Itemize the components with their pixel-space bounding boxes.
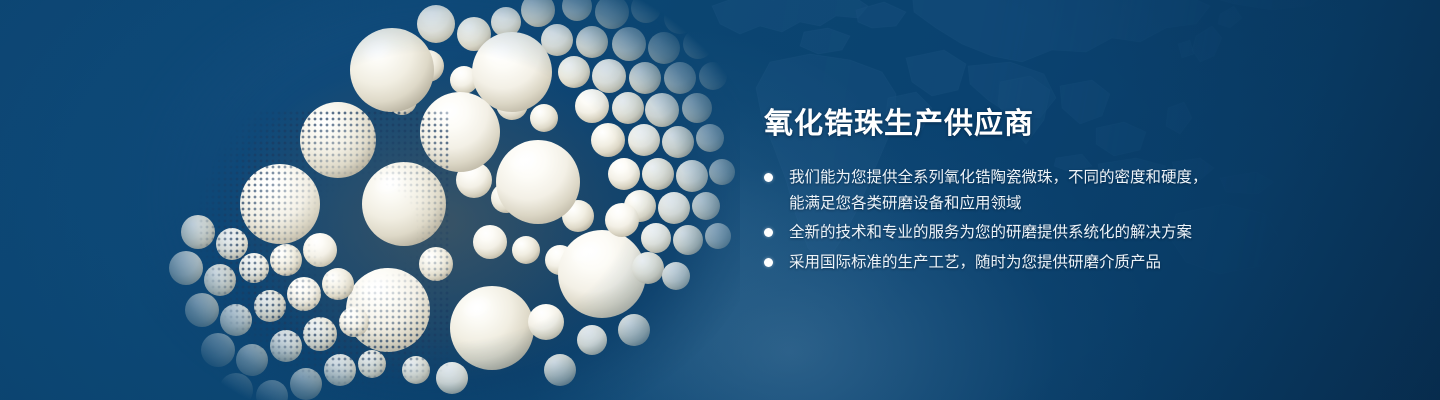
feature-bullet-list: 我们能为您提供全系列氧化锆陶瓷微珠，不同的密度和硬度， 能满足您各类研磨设备和应… <box>764 166 1284 275</box>
list-item: 采用国际标准的生产工艺，随时为您提供研磨介质产品 <box>764 251 1284 275</box>
bullet-text-line: 采用国际标准的生产工艺，随时为您提供研磨介质产品 <box>789 251 1284 275</box>
bullet-dot-icon <box>764 228 773 237</box>
bullet-text-line: 我们能为您提供全系列氧化锆陶瓷微珠，不同的密度和硬度， <box>789 166 1284 190</box>
bullet-text-line: 全新的技术和专业的服务为您的研磨提供系统化的解决方案 <box>789 221 1284 245</box>
list-item: 我们能为您提供全系列氧化锆陶瓷微珠，不同的密度和硬度， 能满足您各类研磨设备和应… <box>764 166 1284 216</box>
bullet-dot-icon <box>764 173 773 182</box>
bullet-text-line: 能满足您各类研磨设备和应用领域 <box>789 192 1284 216</box>
page-title: 氧化锆珠生产供应商 <box>764 104 1284 144</box>
list-item: 全新的技术和专业的服务为您的研磨提供系统化的解决方案 <box>764 221 1284 245</box>
bullet-dot-icon <box>764 258 773 267</box>
hero-banner: 氧化锆珠生产供应商 我们能为您提供全系列氧化锆陶瓷微珠，不同的密度和硬度， 能满… <box>0 0 1440 400</box>
banner-content: 氧化锆珠生产供应商 我们能为您提供全系列氧化锆陶瓷微珠，不同的密度和硬度， 能满… <box>764 104 1284 281</box>
